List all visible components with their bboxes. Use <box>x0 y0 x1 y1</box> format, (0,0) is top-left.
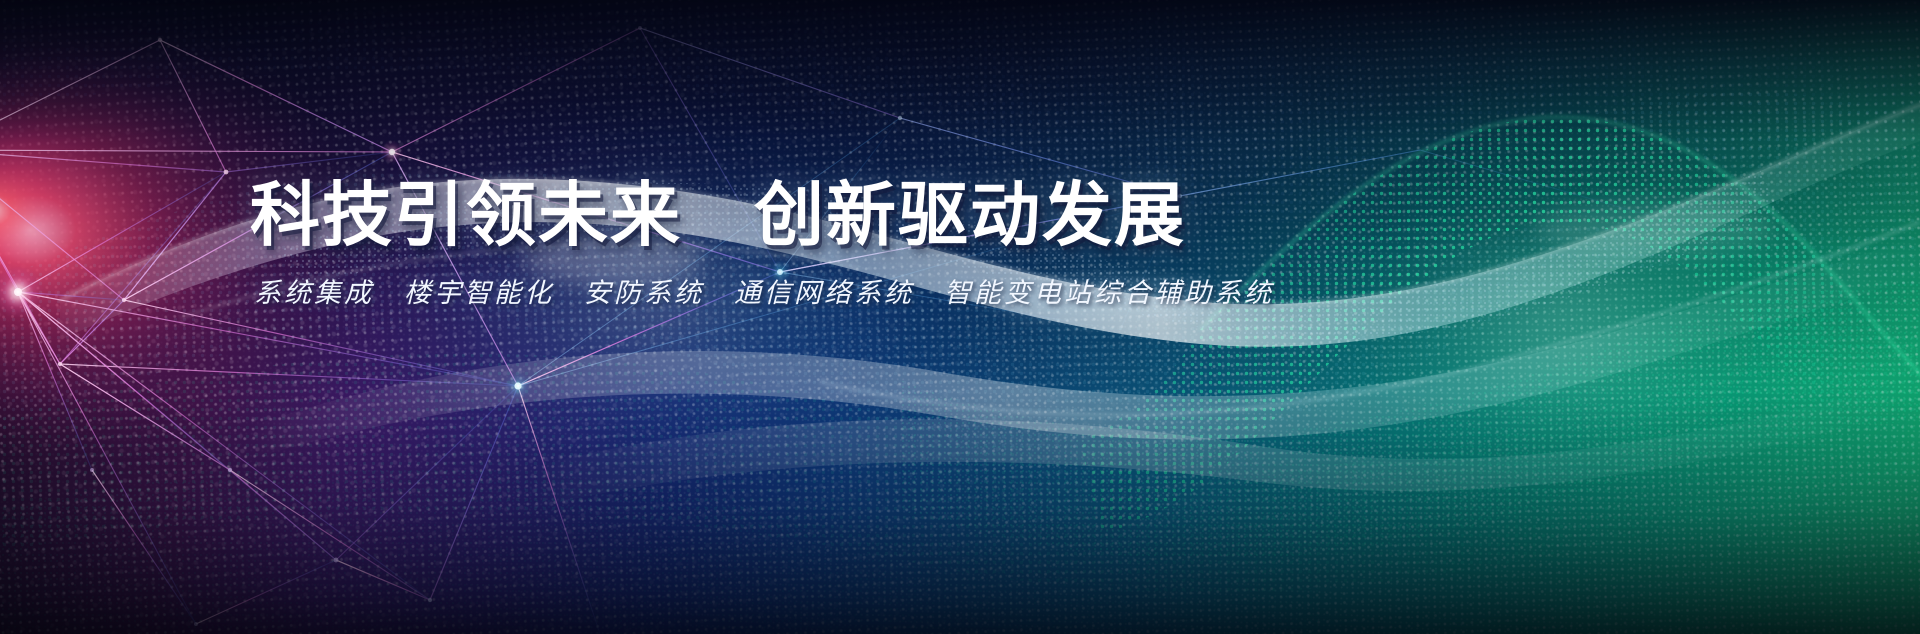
banner-text-block: 科技引领未来 创新驱动发展 系统集成 楼宇智能化 安防系统 通信网络系统 智能变… <box>250 180 1450 307</box>
tech-banner: 科技引领未来 创新驱动发展 系统集成 楼宇智能化 安防系统 通信网络系统 智能变… <box>0 0 1920 634</box>
banner-artwork <box>0 0 1920 634</box>
banner-headline: 科技引领未来 创新驱动发展 <box>250 180 1450 250</box>
banner-subtitle: 系统集成 楼宇智能化 安防系统 通信网络系统 智能变电站综合辅助系统 <box>254 280 1450 307</box>
